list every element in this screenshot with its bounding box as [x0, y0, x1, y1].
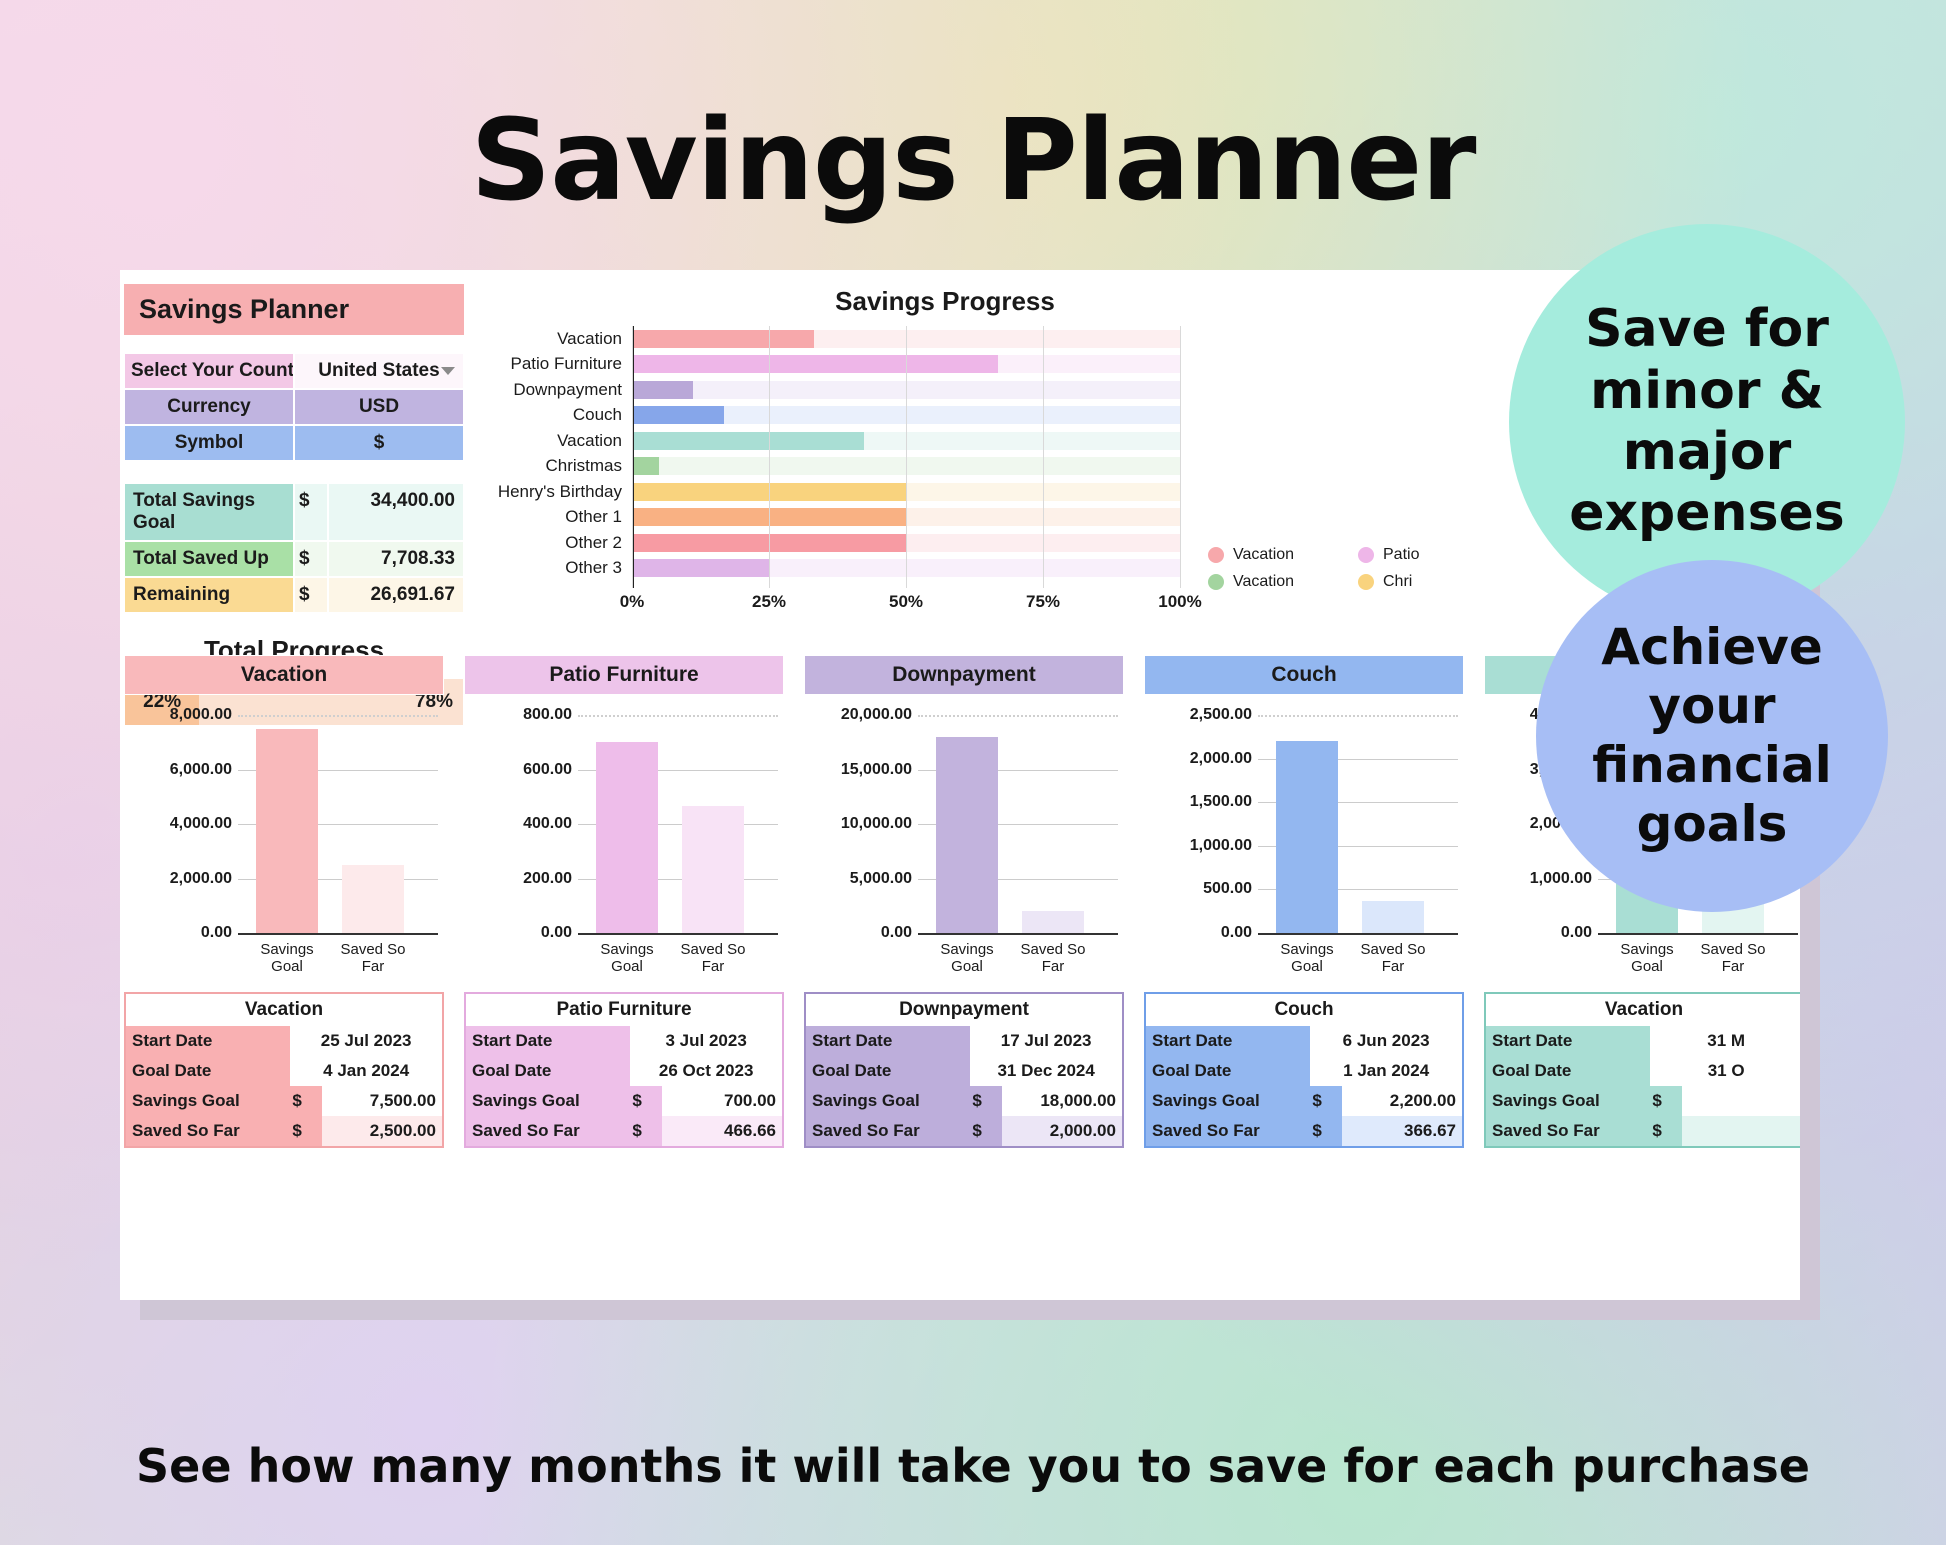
mini-chart: Patio Furniture0.00200.00400.00600.00800…	[464, 655, 784, 985]
symbol-row: Symbol $	[124, 425, 464, 461]
legend-item: Chri	[1358, 573, 1508, 591]
x-axis-ticks: 0%25%50%75%100%	[632, 592, 1180, 616]
progress-bar-label: Vacation	[480, 431, 632, 451]
progress-bar-row: Henry's Birthday	[480, 479, 1180, 505]
y-tick-label: 4,000.00	[124, 815, 232, 833]
total-savings-goal-label: Total Savings Goal	[124, 483, 294, 541]
y-tick-label: 0.00	[464, 924, 572, 942]
currency-symbol: $	[1650, 1116, 1682, 1146]
detail-row-label: Start Date	[1486, 1026, 1650, 1056]
progress-bar-fill	[632, 406, 724, 424]
detail-table-title: Vacation	[1486, 994, 1800, 1026]
mini-chart: Vacation0.002,000.004,000.006,000.008,00…	[124, 655, 444, 985]
remaining-label: Remaining	[124, 577, 294, 613]
remaining-symbol: $	[294, 577, 328, 613]
detail-row-label: Savings Goal	[466, 1086, 630, 1116]
mini-chart-bar	[596, 742, 658, 933]
country-label: Select Your Country	[124, 353, 294, 389]
y-axis-line	[632, 326, 634, 588]
chart-legend: VacationPatioVacationChri	[1208, 546, 1508, 600]
x-tick-label: Saved So Far	[330, 941, 416, 976]
detail-row: Saved So Far$	[1486, 1116, 1800, 1146]
progress-bar-label: Other 3	[480, 558, 632, 578]
progress-bar-background	[632, 457, 1180, 475]
legend-color-dot	[1358, 547, 1374, 563]
x-tick-label: Saved So Far	[670, 941, 756, 976]
progress-bar-row: Couch	[480, 403, 1180, 429]
total-savings-goal-value: 34,400.00	[328, 483, 464, 541]
mini-chart-bar	[256, 729, 318, 933]
currency-symbol: $	[290, 1086, 322, 1116]
x-tick-label: Saved So Far	[1690, 941, 1776, 976]
progress-bar-track	[632, 508, 1180, 526]
detail-row-label: Start Date	[1146, 1026, 1310, 1056]
detail-table: CouchStart Date6 Jun 2023Goal Date1 Jan …	[1144, 992, 1464, 1148]
symbol-value: $	[294, 425, 464, 461]
mini-chart-title: Patio Furniture	[464, 655, 784, 695]
currency-label: Currency	[124, 389, 294, 425]
progress-bar-label: Christmas	[480, 456, 632, 476]
detail-row: Start Date3 Jul 2023	[466, 1026, 782, 1056]
legend-color-dot	[1208, 574, 1224, 590]
progress-bar-track	[632, 559, 1180, 577]
y-tick-label: 5,000.00	[804, 870, 912, 888]
detail-row-value[interactable]: 700.00	[662, 1086, 782, 1116]
mini-chart: Couch0.00500.001,000.001,500.002,000.002…	[1144, 655, 1464, 985]
total-savings-goal-row: Total Savings Goal $ 34,400.00	[124, 483, 464, 541]
y-tick-label: 8,000.00	[124, 706, 232, 724]
currency-symbol: $	[970, 1116, 1002, 1146]
currency-symbol: $	[630, 1116, 662, 1146]
detail-row-value[interactable]	[1682, 1086, 1800, 1116]
currency-symbol: $	[630, 1086, 662, 1116]
currency-symbol: $	[1650, 1086, 1682, 1116]
progress-bar-fill	[632, 483, 906, 501]
mini-chart-bar	[1276, 741, 1338, 933]
chevron-down-icon[interactable]	[441, 367, 455, 375]
detail-row-label: Savings Goal	[1146, 1086, 1310, 1116]
progress-bar-track	[632, 355, 1180, 373]
progress-bar-fill	[632, 330, 814, 348]
progress-bar-track	[632, 406, 1180, 424]
detail-row: Savings Goal$2,200.00	[1146, 1086, 1462, 1116]
detail-table-title: Vacation	[126, 994, 442, 1026]
detail-row-label: Goal Date	[1146, 1056, 1310, 1086]
y-tick-label: 500.00	[1144, 880, 1252, 898]
detail-table-title: Couch	[1146, 994, 1462, 1026]
progress-bar-fill	[632, 559, 769, 577]
total-saved-symbol: $	[294, 541, 328, 577]
mini-chart-title: Couch	[1144, 655, 1464, 695]
gridline	[1180, 326, 1181, 588]
progress-bar-fill	[632, 508, 906, 526]
y-tick-label: 20,000.00	[804, 706, 912, 724]
detail-table: VacationStart Date25 Jul 2023Goal Date4 …	[124, 992, 444, 1148]
progress-bar-track	[632, 330, 1180, 348]
progress-bar-label: Henry's Birthday	[480, 482, 632, 502]
currency-symbol: $	[970, 1086, 1002, 1116]
progress-bar-fill	[632, 355, 998, 373]
detail-row-label: Savings Goal	[1486, 1086, 1650, 1116]
detail-row: Savings Goal$18,000.00	[806, 1086, 1122, 1116]
progress-bar-background	[632, 381, 1180, 399]
detail-row: Start Date6 Jun 2023	[1146, 1026, 1462, 1056]
y-tick-label: 800.00	[464, 706, 572, 724]
detail-row: Goal Date1 Jan 2024	[1146, 1056, 1462, 1086]
detail-table-title: Downpayment	[806, 994, 1122, 1026]
detail-row: Goal Date26 Oct 2023	[466, 1056, 782, 1086]
x-tick-label: Savings Goal	[1264, 941, 1350, 976]
detail-row: Saved So Far$2,000.00	[806, 1116, 1122, 1146]
progress-bar-track	[632, 483, 1180, 501]
x-axis-line	[918, 933, 1118, 935]
progress-bar-track	[632, 432, 1180, 450]
x-tick-label: 100%	[1158, 592, 1201, 612]
progress-bar-fill	[632, 432, 864, 450]
gridline	[1258, 715, 1458, 717]
mini-chart: Downpayment0.005,000.0010,000.0015,000.0…	[804, 655, 1124, 985]
legend-item: Patio	[1358, 546, 1508, 564]
detail-row: Goal Date4 Jan 2024	[126, 1056, 442, 1086]
detail-row: Savings Goal$7,500.00	[126, 1086, 442, 1116]
gridline	[918, 715, 1118, 717]
detail-row-value[interactable]: 31 O	[1650, 1056, 1800, 1086]
legend-label: Vacation	[1233, 573, 1294, 591]
legend-color-dot	[1358, 574, 1374, 590]
x-axis-line	[578, 933, 778, 935]
detail-table: VacationStart Date31 MGoal Date31 OSavin…	[1484, 992, 1800, 1148]
detail-row-label: Goal Date	[806, 1056, 970, 1086]
x-tick-label: 25%	[752, 592, 786, 612]
detail-row-value[interactable]: 6 Jun 2023	[1310, 1026, 1462, 1056]
y-tick-label: 1,500.00	[1144, 793, 1252, 811]
detail-row-value[interactable]: 2,000.00	[1002, 1116, 1122, 1146]
legend-label: Vacation	[1233, 546, 1294, 564]
detail-row: Start Date31 M	[1486, 1026, 1800, 1056]
x-tick-label: 75%	[1026, 592, 1060, 612]
progress-bar-label: Other 1	[480, 507, 632, 527]
x-tick-label: Savings Goal	[244, 941, 330, 976]
currency-row: Currency USD	[124, 389, 464, 425]
detail-row-value[interactable]: 25 Jul 2023	[290, 1026, 442, 1056]
progress-bar-track	[632, 534, 1180, 552]
y-tick-label: 2,500.00	[1144, 706, 1252, 724]
detail-row-label: Saved So Far	[466, 1116, 630, 1146]
total-saved-row: Total Saved Up $ 7,708.33	[124, 541, 464, 577]
progress-bar-row: Downpayment	[480, 377, 1180, 403]
detail-row-label: Goal Date	[1486, 1056, 1650, 1086]
progress-bar-row: Other 1	[480, 505, 1180, 531]
detail-row-label: Saved So Far	[1486, 1116, 1650, 1146]
progress-bar-track	[632, 457, 1180, 475]
x-axis-line	[1598, 933, 1798, 935]
country-row[interactable]: Select Your Country United States	[124, 353, 464, 389]
legend-item: Vacation	[1208, 546, 1358, 564]
detail-row-label: Saved So Far	[126, 1116, 290, 1146]
detail-row-label: Start Date	[126, 1026, 290, 1056]
total-saved-label: Total Saved Up	[124, 541, 294, 577]
y-tick-label: 200.00	[464, 870, 572, 888]
detail-row-label: Start Date	[806, 1026, 970, 1056]
progress-bar-fill	[632, 381, 693, 399]
x-tick-label: Saved So Far	[1010, 941, 1096, 976]
currency-symbol: $	[1310, 1116, 1342, 1146]
detail-row: Start Date17 Jul 2023	[806, 1026, 1122, 1056]
mini-chart-bar	[1362, 901, 1424, 933]
symbol-label: Symbol	[124, 425, 294, 461]
mini-chart-title: Downpayment	[804, 655, 1124, 695]
detail-row-value[interactable]: 4 Jan 2024	[290, 1056, 442, 1086]
detail-table: Patio FurnitureStart Date3 Jul 2023Goal …	[464, 992, 784, 1148]
detail-row-label: Saved So Far	[1146, 1116, 1310, 1146]
x-tick-label: 50%	[889, 592, 923, 612]
x-tick-label: 0%	[620, 592, 645, 612]
mini-chart-plot: 0.00200.00400.00600.00800.00Savings Goal…	[464, 703, 784, 983]
x-tick-label: Savings Goal	[924, 941, 1010, 976]
detail-table: DownpaymentStart Date17 Jul 2023Goal Dat…	[804, 992, 1124, 1148]
remaining-value: 26,691.67	[328, 577, 464, 613]
remaining-row: Remaining $ 26,691.67	[124, 577, 464, 613]
detail-row-label: Saved So Far	[806, 1116, 970, 1146]
page-title: Savings Planner	[0, 96, 1946, 226]
detail-row-value[interactable]: 2,500.00	[322, 1116, 442, 1146]
detail-row: Start Date25 Jul 2023	[126, 1026, 442, 1056]
legend-label: Patio	[1383, 546, 1419, 564]
progress-bar-label: Downpayment	[480, 380, 632, 400]
x-axis-line	[1258, 933, 1458, 935]
y-tick-label: 6,000.00	[124, 761, 232, 779]
progress-bar-row: Christmas	[480, 454, 1180, 480]
x-axis-line	[238, 933, 438, 935]
mini-chart-plot: 0.005,000.0010,000.0015,000.0020,000.00S…	[804, 703, 1124, 983]
progress-bar-track	[632, 381, 1180, 399]
y-tick-label: 10,000.00	[804, 815, 912, 833]
detail-row: Savings Goal$	[1486, 1086, 1800, 1116]
progress-bar-label: Patio Furniture	[480, 354, 632, 374]
total-saved-value: 7,708.33	[328, 541, 464, 577]
detail-row-label: Goal Date	[466, 1056, 630, 1086]
legend-label: Chri	[1383, 573, 1412, 591]
y-tick-label: 1,000.00	[1484, 870, 1592, 888]
y-tick-label: 2,000.00	[1144, 750, 1252, 768]
mini-chart-plot: 0.002,000.004,000.006,000.008,000.00Savi…	[124, 703, 444, 983]
progress-bar-row: Vacation	[480, 326, 1180, 352]
detail-row: Saved So Far$2,500.00	[126, 1116, 442, 1146]
badge-achieve-goals: Achieve your financial goals	[1536, 560, 1888, 912]
mini-chart-title: Vacation	[124, 655, 444, 695]
y-tick-label: 2,000.00	[124, 870, 232, 888]
progress-bar-row: Other 3	[480, 556, 1180, 582]
progress-bar-fill	[632, 534, 906, 552]
detail-row-label: Savings Goal	[126, 1086, 290, 1116]
mini-chart-bar	[342, 865, 404, 933]
x-tick-label: Savings Goal	[584, 941, 670, 976]
currency-symbol: $	[1310, 1086, 1342, 1116]
detail-row-value[interactable]: 17 Jul 2023	[970, 1026, 1122, 1056]
y-tick-label: 1,000.00	[1144, 837, 1252, 855]
detail-row: Saved So Far$466.66	[466, 1116, 782, 1146]
progress-bar-fill	[632, 457, 659, 475]
progress-bar-row: Vacation	[480, 428, 1180, 454]
mini-chart-bar	[1022, 911, 1084, 933]
x-tick-label: Savings Goal	[1604, 941, 1690, 976]
mini-chart-bar	[936, 737, 998, 933]
detail-row-label: Savings Goal	[806, 1086, 970, 1116]
mini-chart-plot: 0.00500.001,000.001,500.002,000.002,500.…	[1144, 703, 1464, 983]
y-tick-label: 0.00	[1484, 924, 1592, 942]
detail-table-title: Patio Furniture	[466, 994, 782, 1026]
savings-progress-plot: VacationPatio FurnitureDownpaymentCouchV…	[480, 326, 1180, 616]
y-tick-label: 400.00	[464, 815, 572, 833]
detail-row-label: Start Date	[466, 1026, 630, 1056]
y-tick-label: 0.00	[124, 924, 232, 942]
mini-chart-bar	[682, 806, 744, 933]
progress-bar-label: Other 2	[480, 533, 632, 553]
detail-row-value[interactable]	[1682, 1116, 1800, 1146]
progress-bar-label: Couch	[480, 405, 632, 425]
detail-row: Goal Date31 O	[1486, 1056, 1800, 1086]
y-tick-label: 0.00	[804, 924, 912, 942]
detail-row-value[interactable]: 466.66	[662, 1116, 782, 1146]
detail-row-value[interactable]: 1 Jan 2024	[1310, 1056, 1462, 1086]
detail-row-value[interactable]: 26 Oct 2023	[630, 1056, 782, 1086]
progress-bar-row: Other 2	[480, 530, 1180, 556]
detail-row-value[interactable]: 2,200.00	[1342, 1086, 1462, 1116]
x-tick-label: Saved So Far	[1350, 941, 1436, 976]
legend-color-dot	[1208, 547, 1224, 563]
y-tick-label: 0.00	[1144, 924, 1252, 942]
detail-row: Saved So Far$366.67	[1146, 1116, 1462, 1146]
y-tick-label: 15,000.00	[804, 761, 912, 779]
detail-row-value[interactable]: 18,000.00	[1002, 1086, 1122, 1116]
currency-value: USD	[294, 389, 464, 425]
country-value: United States	[318, 360, 439, 381]
detail-row-label: Goal Date	[126, 1056, 290, 1086]
poster-caption: See how many months it will take you to …	[0, 1439, 1946, 1493]
country-value-cell[interactable]: United States	[294, 353, 464, 389]
detail-row: Goal Date31 Dec 2024	[806, 1056, 1122, 1086]
total-savings-goal-symbol: $	[294, 483, 328, 541]
detail-row: Savings Goal$700.00	[466, 1086, 782, 1116]
currency-symbol: $	[290, 1116, 322, 1146]
detail-row-value[interactable]: 366.67	[1342, 1116, 1462, 1146]
detail-row-value[interactable]: 7,500.00	[322, 1086, 442, 1116]
detail-row-value[interactable]: 31 M	[1650, 1026, 1800, 1056]
progress-bar-label: Vacation	[480, 329, 632, 349]
y-tick-label: 600.00	[464, 761, 572, 779]
progress-bar-row: Patio Furniture	[480, 352, 1180, 378]
detail-row-value[interactable]: 31 Dec 2024	[970, 1056, 1122, 1086]
gridline	[578, 715, 778, 717]
gridline	[238, 715, 438, 717]
legend-item: Vacation	[1208, 573, 1358, 591]
detail-row-value[interactable]: 3 Jul 2023	[630, 1026, 782, 1056]
